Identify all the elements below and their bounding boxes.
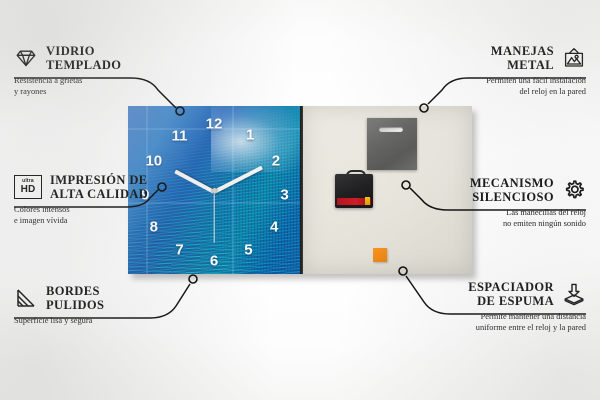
feature-manejas-metal: MANEJAS METAL Permiten una fácil instala… bbox=[410, 44, 586, 97]
feature-description: Las manecillas del reloj no emiten ningú… bbox=[410, 204, 586, 229]
feature-description: Permiten una fácil instalación del reloj… bbox=[410, 72, 586, 97]
feature-header: BORDES PULIDOS bbox=[14, 284, 190, 312]
polished-edges-icon bbox=[14, 286, 38, 310]
highlight-glow bbox=[211, 106, 300, 172]
mechanism-chip bbox=[365, 197, 370, 205]
feature-description: Resistencia a grietas y rayones bbox=[14, 72, 190, 97]
hanger-slot bbox=[379, 127, 403, 132]
feature-title: MANEJAS METAL bbox=[491, 44, 554, 72]
clock-numeral-1: 1 bbox=[246, 127, 254, 142]
feature-title: IMPRESIÓN DE ALTA CALIDAD bbox=[50, 173, 148, 201]
metal-hanger-plate bbox=[367, 118, 417, 170]
clock-numeral-5: 5 bbox=[244, 243, 252, 258]
clock-mechanism bbox=[335, 170, 373, 208]
clock-numeral-2: 2 bbox=[272, 154, 280, 169]
feature-title: BORDES PULIDOS bbox=[46, 284, 104, 312]
ultra-hd-icon: ultra HD bbox=[14, 175, 42, 199]
clock-numeral-12: 12 bbox=[206, 117, 223, 132]
feature-description: Permite mantener una distancia uniforme … bbox=[410, 308, 586, 333]
clock-numeral-7: 7 bbox=[175, 243, 183, 258]
feature-mecanismo-silencioso: MECANISMO SILENCIOSO Las manecillas del … bbox=[410, 176, 586, 229]
feature-title: ESPACIADOR DE ESPUMA bbox=[468, 280, 554, 308]
foam-spacer bbox=[373, 248, 387, 262]
mechanism-body bbox=[335, 174, 373, 208]
feature-header: MANEJAS METAL bbox=[410, 44, 586, 72]
diamond-icon bbox=[14, 46, 38, 70]
gear-icon bbox=[562, 178, 586, 202]
feature-bordes-pulidos: BORDES PULIDOS Superficie lisa y segura bbox=[14, 284, 190, 326]
hand-pivot bbox=[212, 188, 217, 193]
infographic-canvas: 12 1 2 3 4 5 6 7 8 9 10 11 bbox=[0, 0, 600, 400]
feature-description: Superficie lisa y segura bbox=[14, 312, 190, 326]
feature-title: VIDRIO TEMPLADO bbox=[46, 44, 121, 72]
feature-impresion-alta-calidad: ultra HD IMPRESIÓN DE ALTA CALIDAD Color… bbox=[14, 173, 190, 226]
clock-numeral-10: 10 bbox=[145, 154, 162, 169]
picture-hanger-icon bbox=[562, 46, 586, 70]
clock-numeral-4: 4 bbox=[270, 219, 278, 234]
clock-numeral-11: 11 bbox=[172, 129, 188, 144]
feature-description: Colores intensos e imagen vívida bbox=[14, 201, 190, 226]
second-hand bbox=[213, 191, 214, 243]
feature-header: MECANISMO SILENCIOSO bbox=[410, 176, 586, 204]
feature-espaciador-espuma: ESPACIADOR DE ESPUMA Permite mantener un… bbox=[410, 280, 586, 333]
clock-numeral-3: 3 bbox=[280, 188, 288, 203]
feature-header: ESPACIADOR DE ESPUMA bbox=[410, 280, 586, 308]
ultra-hd-icon-large-label: HD bbox=[21, 185, 36, 195]
feature-header: ultra HD IMPRESIÓN DE ALTA CALIDAD bbox=[14, 173, 190, 201]
foam-spacer-icon bbox=[562, 282, 586, 306]
feature-title: MECANISMO SILENCIOSO bbox=[470, 176, 554, 204]
clock-numeral-6: 6 bbox=[210, 253, 218, 268]
feature-vidrio-templado: VIDRIO TEMPLADO Resistencia a grietas y … bbox=[14, 44, 190, 97]
feature-header: VIDRIO TEMPLADO bbox=[14, 44, 190, 72]
